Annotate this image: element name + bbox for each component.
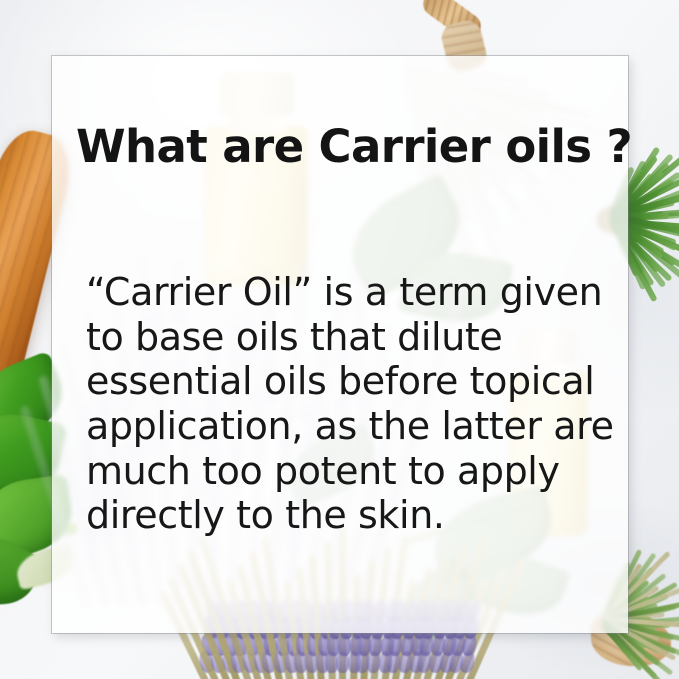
body-line: directly to the skin. <box>86 493 626 538</box>
body-line: to base oils that dilute <box>86 315 626 360</box>
body-line: essential oils before topical <box>86 359 626 404</box>
text-layer: What are Carrier oils ? “Carrier Oil” is… <box>52 56 628 633</box>
body-line: much too potent to apply <box>86 449 626 494</box>
body-line: application, as the latter are <box>86 404 626 449</box>
carrier-oils-graphic: What are Carrier oils ? “Carrier Oil” is… <box>0 0 679 679</box>
body-line: “Carrier Oil” is a term given <box>86 270 626 315</box>
body-paragraph: “Carrier Oil” is a term given to base oi… <box>86 270 626 538</box>
page-title: What are Carrier oils ? <box>76 124 616 169</box>
